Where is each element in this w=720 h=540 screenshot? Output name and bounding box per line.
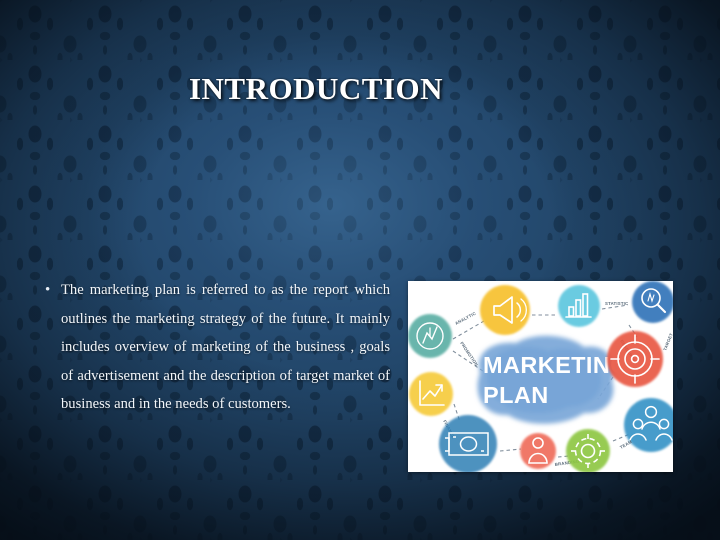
infographic-node-target <box>607 331 663 387</box>
infographic-svg: MARKETING PLAN ANALYTIC PROMOTION <box>408 281 673 472</box>
infographic-center-line2: PLAN <box>483 382 549 408</box>
infographic-node-finance <box>409 372 453 416</box>
list-item: • The marketing plan is referred to as t… <box>42 276 390 419</box>
infographic-node-settings <box>566 429 610 472</box>
bullet-paragraph: The marketing plan is referred to as the… <box>61 276 390 419</box>
infographic-node-branding <box>520 433 556 469</box>
body-text-block: • The marketing plan is referred to as t… <box>42 276 390 419</box>
marketing-plan-infographic-image: MARKETING PLAN ANALYTIC PROMOTION <box>408 281 673 472</box>
infographic-node-money <box>439 415 497 472</box>
center-blob <box>478 336 614 424</box>
infographic-node-research <box>632 281 673 323</box>
infographic-label-statistics: STATISTIC <box>605 301 628 306</box>
infographic-node-analytics <box>408 314 452 358</box>
slide-canvas: INTRODUCTION • The marketing plan is ref… <box>0 0 720 540</box>
infographic-node-statistics <box>558 285 600 327</box>
infographic-center-line1: MARKETING <box>483 352 629 378</box>
page-title: INTRODUCTION <box>0 71 632 107</box>
infographic-node-promotion <box>480 285 530 335</box>
bullet-icon: • <box>42 276 61 305</box>
